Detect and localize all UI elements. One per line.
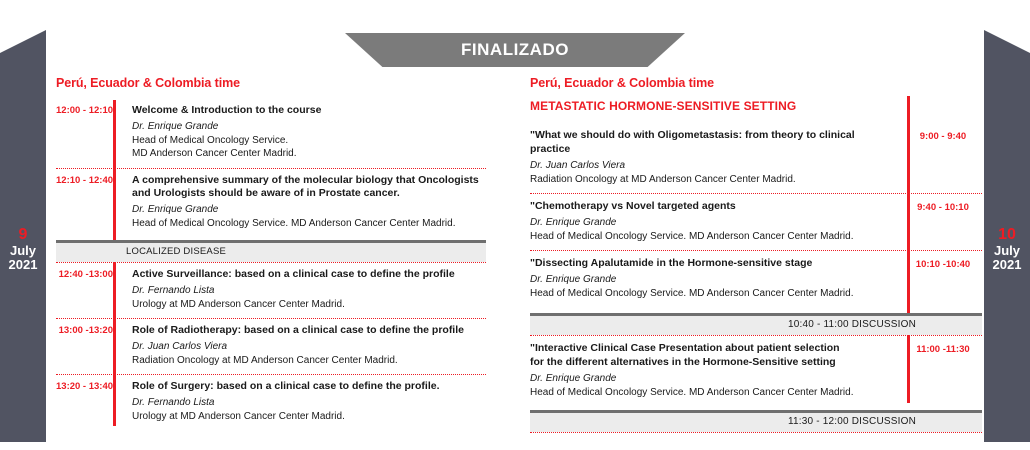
day1-date-stack: 9 July 2021 [0, 226, 46, 273]
session-speaker: Dr. Enrique Grande [530, 372, 894, 386]
day2-date-stack: 10 July 2021 [984, 226, 1030, 273]
day2-session-row[interactable]: "Chemotherapy vs Novel targeted agents D… [530, 194, 982, 250]
session-affiliation: Urology at MD Anderson Cancer Center Mad… [132, 410, 486, 423]
session-body: A comprehensive summary of the molecular… [119, 174, 486, 231]
day2-timezone-header: Perú, Ecuador & Colombia time [530, 76, 982, 90]
session-title: A comprehensive summary of the molecular… [132, 174, 486, 188]
day2-date-year: 2021 [984, 258, 1030, 273]
day1-section-band-label: LOCALIZED DISEASE [126, 246, 226, 257]
session-body: Active Surveillance: based on a clinical… [119, 268, 486, 311]
session-speaker: Dr. Enrique Grande [530, 273, 894, 287]
session-body: "Dissecting Apalutamide in the Hormone-s… [530, 257, 904, 300]
day1-timezone-header: Perú, Ecuador & Colombia time [56, 76, 486, 90]
day2-discussion-band-2: 11:30 - 12:00 DISCUSSION [530, 410, 982, 432]
day2-date-day: 10 [984, 226, 1030, 244]
session-speaker: Dr. Fernando Lista [132, 396, 486, 410]
session-affiliation: Head of Medical Oncology Service. MD And… [132, 217, 486, 230]
day1-session-row[interactable]: 12:40 -13:00 Active Surveillance: based … [56, 263, 486, 318]
session-title: "Interactive Clinical Case Presentation … [530, 342, 894, 356]
session-title: "Chemotherapy vs Novel targeted agents [530, 200, 894, 214]
session-speaker: Dr. Juan Carlos Viera [530, 159, 894, 173]
session-body: "Chemotherapy vs Novel targeted agents D… [530, 200, 904, 243]
session-title: Role of Surgery: based on a clinical cas… [132, 380, 486, 394]
day1-session-row[interactable]: 12:10 - 12:40 A comprehensive summary of… [56, 169, 486, 238]
session-affiliation: Head of Medical Oncology Service. [132, 134, 486, 147]
day2-discussion-band-1: 10:40 - 11:00 DISCUSSION [530, 313, 982, 335]
session-speaker: Dr. Enrique Grande [132, 120, 486, 134]
session-affiliation: Head of Medical Oncology Service. MD And… [530, 230, 894, 243]
day2-session-row[interactable]: "Dissecting Apalutamide in the Hormone-s… [530, 251, 982, 307]
session-title: and Urologists should be aware of in Pro… [132, 187, 486, 201]
day1-section-band-wrap: LOCALIZED DISEASE 12:40 -13:00 Active Su… [56, 240, 486, 430]
day1-session-row[interactable]: 12:00 - 12:10 Welcome & Introduction to … [56, 99, 486, 168]
day2-discussion-label-1: 10:40 - 11:00 DISCUSSION [788, 319, 916, 330]
day2-session-row[interactable]: "Interactive Clinical Case Presentation … [530, 336, 982, 406]
day1-date-day: 9 [0, 226, 46, 244]
session-time: 13:00 -13:20 [56, 324, 119, 367]
session-title: "What we should do with Oligometastasis:… [530, 129, 894, 157]
session-time: 12:40 -13:00 [56, 268, 119, 311]
day2-session-row[interactable]: "What we should do with Oligometastasis:… [530, 123, 982, 193]
session-separator [530, 432, 982, 433]
session-speaker: Dr. Fernando Lista [132, 284, 486, 298]
session-time: 12:00 - 12:10 [56, 104, 119, 161]
session-time: 10:10 -10:40 [904, 257, 982, 300]
session-body: "What we should do with Oligometastasis:… [530, 129, 904, 186]
session-time: 9:00 - 9:40 [904, 129, 982, 186]
status-banner-label: FINALIZADO [461, 40, 569, 60]
day1-section-band: LOCALIZED DISEASE [56, 240, 486, 262]
day2-agenda-column: Perú, Ecuador & Colombia time METASTATIC… [530, 76, 982, 433]
status-banner: FINALIZADO [345, 33, 685, 67]
session-affiliation: Radiation Oncology at MD Anderson Cancer… [530, 173, 894, 186]
day2-date-month: July [984, 244, 1030, 259]
session-affiliation: Urology at MD Anderson Cancer Center Mad… [132, 298, 486, 311]
day1-date-month: July [0, 244, 46, 259]
day2-section-header: METASTATIC HORMONE-SENSITIVE SETTING [530, 99, 982, 113]
session-affiliation: MD Anderson Cancer Center Madrid. [132, 147, 486, 160]
session-body: Role of Radiotherapy: based on a clinica… [119, 324, 486, 367]
day1-session-row[interactable]: 13:20 - 13:40 Role of Surgery: based on … [56, 375, 486, 430]
session-body: Role of Surgery: based on a clinical cas… [119, 380, 486, 423]
session-title: for the different alternatives in the Ho… [530, 356, 894, 370]
day1-date-year: 2021 [0, 258, 46, 273]
session-title: Role of Radiotherapy: based on a clinica… [132, 324, 486, 338]
day1-session-row[interactable]: 13:00 -13:20 Role of Radiotherapy: based… [56, 319, 486, 374]
session-time: 11:00 -11:30 [904, 342, 982, 399]
session-title: Welcome & Introduction to the course [132, 104, 486, 118]
session-speaker: Dr. Enrique Grande [132, 203, 486, 217]
session-body: "Interactive Clinical Case Presentation … [530, 342, 904, 399]
session-title: Active Surveillance: based on a clinical… [132, 268, 486, 282]
day2-discussion-label-2: 11:30 - 12:00 DISCUSSION [788, 416, 916, 427]
session-title: "Dissecting Apalutamide in the Hormone-s… [530, 257, 894, 271]
session-affiliation: Head of Medical Oncology Service. MD And… [530, 386, 894, 399]
session-speaker: Dr. Juan Carlos Viera [132, 340, 486, 354]
day1-agenda-column: Perú, Ecuador & Colombia time 12:00 - 12… [56, 76, 486, 238]
session-time: 13:20 - 13:40 [56, 380, 119, 423]
day2-date-panel: 10 July 2021 [984, 30, 1030, 442]
day1-date-panel: 9 July 2021 [0, 30, 46, 442]
session-affiliation: Head of Medical Oncology Service. MD And… [530, 287, 894, 300]
session-body: Welcome & Introduction to the course Dr.… [119, 104, 486, 161]
session-speaker: Dr. Enrique Grande [530, 216, 894, 230]
session-time: 9:40 - 10:10 [904, 200, 982, 243]
session-time: 12:10 - 12:40 [56, 174, 119, 231]
session-affiliation: Radiation Oncology at MD Anderson Cancer… [132, 354, 486, 367]
